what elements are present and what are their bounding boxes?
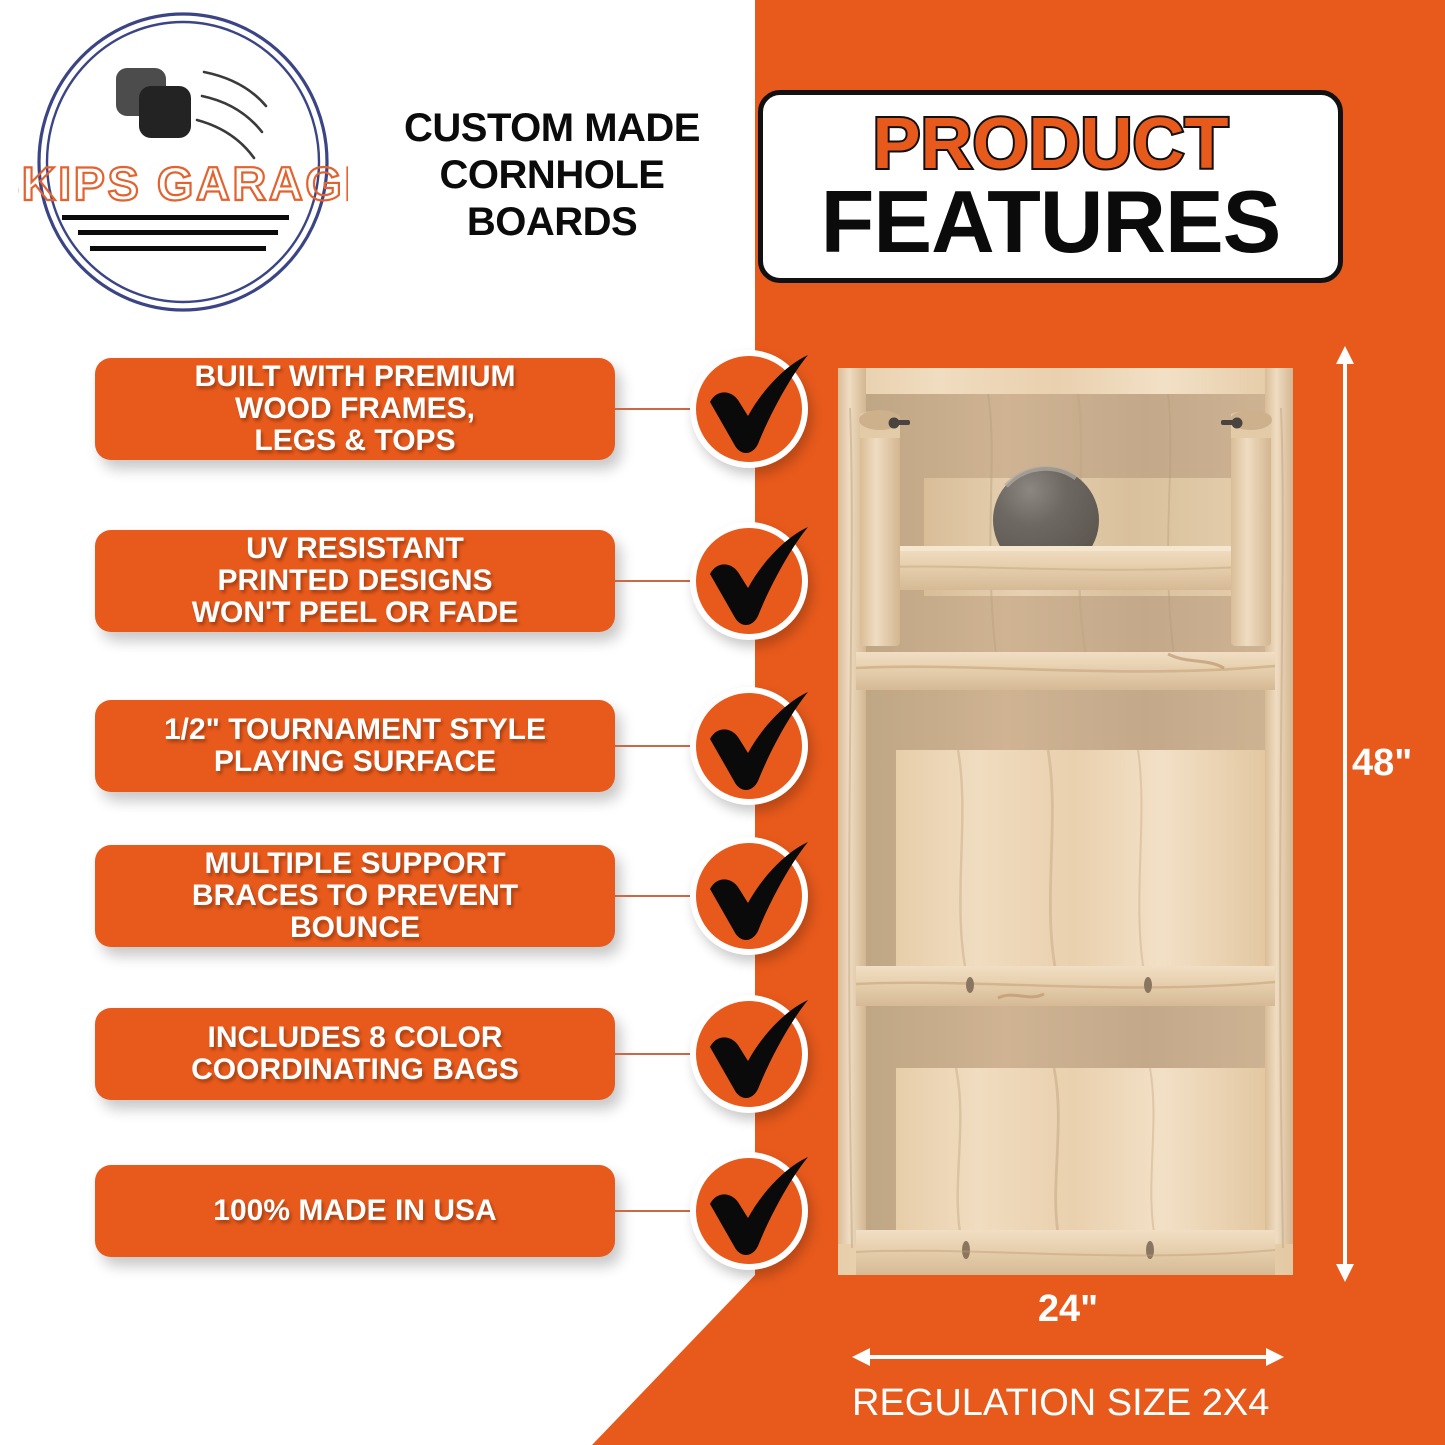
feature-row-support-braces: MULTIPLE SUPPORT BRACES TO PREVENT BOUNC… [0, 845, 860, 985]
badge-line-features: FEATURES [821, 180, 1281, 264]
regulation-size-text: REGULATION SIZE 2X4 [852, 1382, 1332, 1425]
feature-check-badge [690, 522, 808, 640]
feature-row-premium-wood: BUILT WITH PREMIUM WOOD FRAMES, LEGS & T… [0, 358, 860, 498]
width-dimension-arrow [852, 1345, 1284, 1369]
feature-line: MULTIPLE SUPPORT [113, 848, 597, 880]
feature-label-box: 1/2" TOURNAMENT STYLE PLAYING SURFACE [95, 700, 615, 792]
feature-check-badge [690, 837, 808, 955]
badge-line-product: PRODUCT [873, 110, 1229, 178]
feature-line: WOOD FRAMES, [113, 393, 597, 425]
infographic-canvas: SKIPS GARAGE CUSTOM MADE CORNHOLE BOARDS… [0, 0, 1445, 1445]
feature-line: WON'T PEEL OR FADE [113, 597, 597, 629]
page-title-line-3: BOARDS [352, 199, 752, 246]
feature-line: BOUNCE [113, 912, 597, 944]
feature-row-made-in-usa: 100% MADE IN USA [0, 1165, 860, 1305]
feature-row-tournament-surface: 1/2" TOURNAMENT STYLE PLAYING SURFACE [0, 700, 860, 840]
feature-line: PRINTED DESIGNS [113, 565, 597, 597]
feature-check-badge [690, 687, 808, 805]
feature-line: COORDINATING BAGS [113, 1054, 597, 1086]
feature-line: LEGS & TOPS [113, 425, 597, 457]
feature-line: 100% MADE IN USA [113, 1195, 597, 1227]
feature-label-box: UV RESISTANT PRINTED DESIGNS WON'T PEEL … [95, 530, 615, 632]
feature-line: UV RESISTANT [113, 533, 597, 565]
feature-line: BUILT WITH PREMIUM [113, 361, 597, 393]
product-features-badge: PRODUCT FEATURES [758, 90, 1343, 283]
feature-line: BRACES TO PREVENT [113, 880, 597, 912]
feature-label-box: MULTIPLE SUPPORT BRACES TO PREVENT BOUNC… [95, 845, 615, 947]
feature-line: PLAYING SURFACE [113, 746, 597, 778]
feature-line: 1/2" TOURNAMENT STYLE [113, 714, 597, 746]
logo-wordmark: SKIPS GARAGE [18, 157, 348, 210]
feature-label-box: BUILT WITH PREMIUM WOOD FRAMES, LEGS & T… [95, 358, 615, 460]
width-dimension-label: 24" [852, 1288, 1284, 1331]
cornhole-board-underside-photo [838, 368, 1293, 1275]
page-title-line-2: CORNHOLE [352, 152, 752, 199]
feature-label-box: INCLUDES 8 COLOR COORDINATING BAGS [95, 1008, 615, 1100]
feature-line: INCLUDES 8 COLOR [113, 1022, 597, 1054]
feature-check-badge [690, 1152, 808, 1270]
feature-check-badge [690, 995, 808, 1113]
feature-row-color-bags: INCLUDES 8 COLOR COORDINATING BAGS [0, 1008, 860, 1148]
height-dimension-arrow [1333, 346, 1357, 1282]
feature-row-uv-resistant: UV RESISTANT PRINTED DESIGNS WON'T PEEL … [0, 530, 860, 670]
feature-label-box: 100% MADE IN USA [95, 1165, 615, 1257]
height-dimension-label: 48" [1352, 742, 1412, 785]
brand-logo: SKIPS GARAGE [18, 10, 348, 320]
feature-check-badge [690, 350, 808, 468]
page-title-line-1: CUSTOM MADE [352, 105, 752, 152]
page-title: CUSTOM MADE CORNHOLE BOARDS [352, 105, 752, 247]
